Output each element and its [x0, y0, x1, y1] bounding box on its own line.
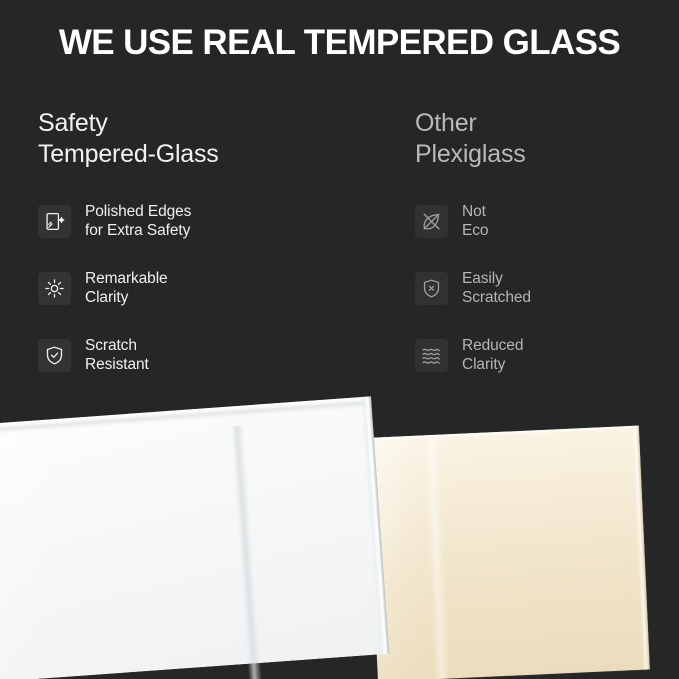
tempered-glass-panel — [0, 396, 389, 679]
column-heading-plexiglass: Other Plexiglass — [415, 108, 679, 170]
feature-list-plexiglass: Not Eco Easily Scratched — [415, 198, 679, 378]
feature-label-line1: Polished Edges — [85, 202, 191, 221]
feature-item-reduced-clarity: Reduced Clarity — [415, 332, 679, 378]
leaf-crossed-icon — [415, 205, 448, 238]
feature-label-line2: Eco — [462, 221, 488, 240]
column-heading-line1: Safety — [38, 108, 368, 139]
feature-item-easily-scratched: Easily Scratched — [415, 265, 679, 311]
column-heading-line2: Plexiglass — [415, 139, 679, 170]
tempered-glass-panel-reflection — [231, 426, 262, 679]
feature-label: Remarkable Clarity — [85, 269, 168, 307]
wavy-lines-icon — [415, 339, 448, 372]
feature-item-remarkable-clarity: Remarkable Clarity — [38, 265, 368, 311]
feature-label: Polished Edges for Extra Safety — [85, 202, 191, 240]
plexiglass-panel — [367, 426, 650, 679]
sun-clarity-icon — [38, 272, 71, 305]
feature-label: Not Eco — [462, 202, 488, 240]
shield-x-icon — [415, 272, 448, 305]
column-heading-line1: Other — [415, 108, 679, 139]
feature-label-line2: Clarity — [85, 288, 168, 307]
page-title: WE USE REAL TEMPERED GLASS — [0, 22, 679, 64]
feature-item-not-eco: Not Eco — [415, 198, 679, 244]
feature-label-line1: Not — [462, 202, 488, 221]
comparison-infographic: WE USE REAL TEMPERED GLASS Safety Temper… — [0, 0, 679, 679]
plexiglass-panel-top-edge — [367, 426, 639, 442]
column-heading-tempered-glass: Safety Tempered-Glass — [38, 108, 368, 170]
feature-label: Easily Scratched — [462, 269, 531, 307]
feature-item-scratch-resistant: Scratch Resistant — [38, 332, 368, 378]
feature-label-line2: Clarity — [462, 355, 523, 374]
feature-label-line2: for Extra Safety — [85, 221, 191, 240]
polished-edges-icon — [38, 205, 71, 238]
shield-check-icon — [38, 339, 71, 372]
feature-label-line1: Scratch — [85, 336, 149, 355]
feature-item-polished-edges: Polished Edges for Extra Safety — [38, 198, 368, 244]
feature-label-line1: Easily — [462, 269, 531, 288]
plexiglass-panel-right-edge — [632, 426, 650, 670]
feature-label-line2: Scratched — [462, 288, 531, 307]
column-heading-line2: Tempered-Glass — [38, 139, 368, 170]
feature-label-line1: Remarkable — [85, 269, 168, 288]
plexiglass-panel-reflection — [423, 435, 450, 679]
column-tempered-glass: Safety Tempered-Glass Polished Edges for… — [38, 108, 368, 399]
feature-list-tempered-glass: Polished Edges for Extra Safety Remarkab… — [38, 198, 368, 378]
glass-panels-photo — [0, 390, 679, 679]
feature-label: Scratch Resistant — [85, 336, 149, 374]
column-plexiglass: Other Plexiglass Not Eco — [415, 108, 679, 399]
feature-label-line1: Reduced — [462, 336, 523, 355]
feature-label: Reduced Clarity — [462, 336, 523, 374]
feature-label-line2: Resistant — [85, 355, 149, 374]
